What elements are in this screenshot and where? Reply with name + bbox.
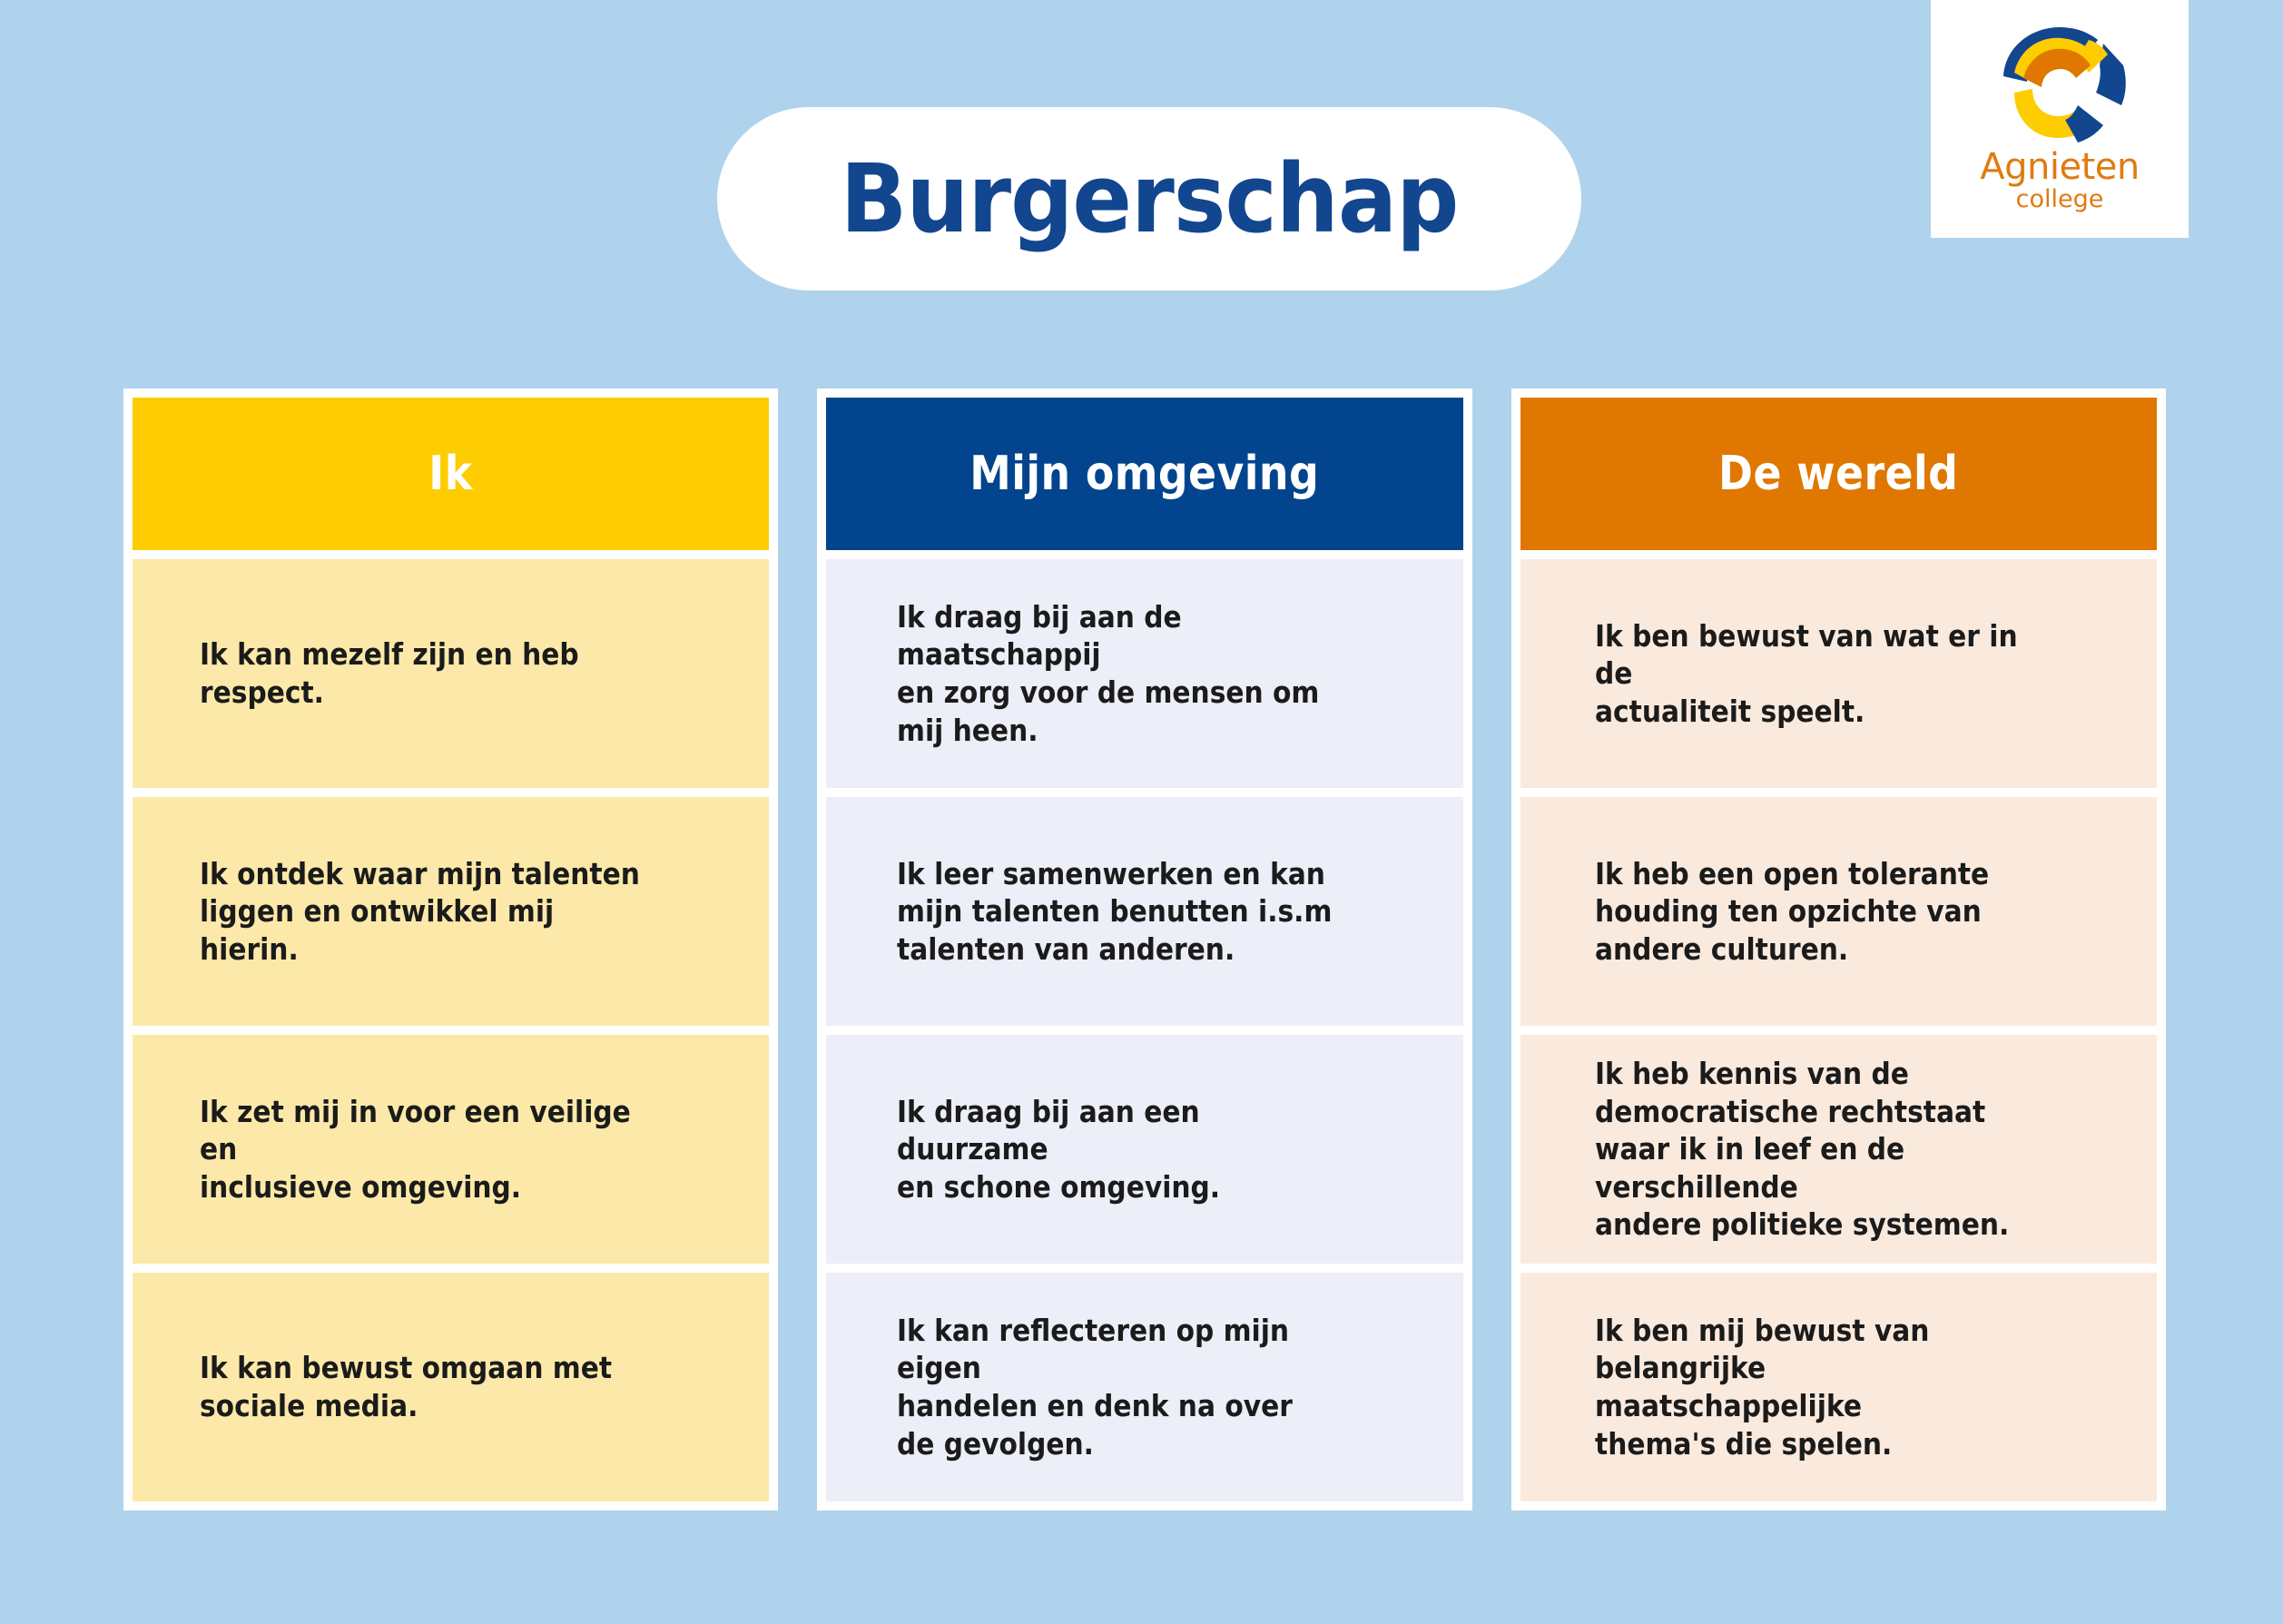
list-item: Ik kan reflecteren op mijn eigen handele… [826, 1273, 1462, 1501]
column-header-label: Mijn omgeving [970, 450, 1320, 497]
cell-text: Ik heb kennis van de democratische recht… [1595, 1055, 2037, 1244]
page-title: Burgerschap [841, 152, 1459, 246]
agnieten-swirl-mark-icon [1987, 22, 2132, 143]
page-title-pill: Burgerschap [717, 107, 1581, 290]
list-item: Ik kan bewust omgaan met sociale media. [133, 1273, 769, 1501]
logo-subtitle: college [1980, 187, 2139, 212]
column-cells-de-wereld: Ik ben bewust van wat er in de actualite… [1520, 550, 2157, 1501]
cell-text: Ik kan mezelf zijn en heb respect. [200, 635, 648, 711]
list-item: Ik ben bewust van wat er in de actualite… [1520, 559, 2157, 788]
list-item: Ik leer samenwerken en kan mijn talenten… [826, 797, 1462, 1026]
logo-card: Agnieten college [1931, 0, 2189, 238]
cell-text: Ik draag bij aan de maatschappij en zorg… [897, 598, 1343, 749]
list-item: Ik ben mij bewust van belangrijke maatsc… [1520, 1273, 2157, 1501]
burgerschap-board: Ik Ik kan mezelf zijn en heb respect. Ik… [123, 389, 2166, 1511]
column-header-mijn-omgeving: Mijn omgeving [826, 398, 1462, 550]
cell-text: Ik kan reflecteren op mijn eigen handele… [897, 1312, 1343, 1462]
list-item: Ik heb een open tolerante houding ten op… [1520, 797, 2157, 1026]
cell-text: Ik draag bij aan een duurzame en schone … [897, 1093, 1343, 1206]
list-item: Ik ontdek waar mijn talenten liggen en o… [133, 797, 769, 1026]
logo-name: Agnieten [1980, 149, 2139, 185]
list-item: Ik heb kennis van de democratische recht… [1520, 1035, 2157, 1264]
cell-text: Ik leer samenwerken en kan mijn talenten… [897, 855, 1332, 969]
cell-text: Ik ben bewust van wat er in de actualite… [1595, 617, 2037, 731]
column-cells-ik: Ik kan mezelf zijn en heb respect. Ik on… [133, 550, 769, 1501]
column-header-label: De wereld [1718, 450, 1958, 497]
column-header-ik: Ik [133, 398, 769, 550]
list-item: Ik kan mezelf zijn en heb respect. [133, 559, 769, 788]
column-header-label: Ik [428, 450, 472, 497]
cell-text: Ik ontdek waar mijn talenten liggen en o… [200, 855, 648, 969]
list-item: Ik draag bij aan de maatschappij en zorg… [826, 559, 1462, 788]
list-item: Ik zet mij in voor een veilige en inclus… [133, 1035, 769, 1264]
column-de-wereld: De wereld Ik ben bewust van wat er in de… [1511, 389, 2166, 1511]
column-header-de-wereld: De wereld [1520, 398, 2157, 550]
cell-text: Ik kan bewust omgaan met sociale media. [200, 1349, 612, 1424]
cell-text: Ik heb een open tolerante houding ten op… [1595, 855, 1989, 969]
column-cells-mijn-omgeving: Ik draag bij aan de maatschappij en zorg… [826, 550, 1462, 1501]
list-item: Ik draag bij aan een duurzame en schone … [826, 1035, 1462, 1264]
column-ik: Ik Ik kan mezelf zijn en heb respect. Ik… [123, 389, 778, 1511]
cell-text: Ik ben mij bewust van belangrijke maatsc… [1595, 1312, 2037, 1462]
cell-text: Ik zet mij in voor een veilige en inclus… [200, 1093, 648, 1206]
column-mijn-omgeving: Mijn omgeving Ik draag bij aan de maatsc… [817, 389, 1471, 1511]
